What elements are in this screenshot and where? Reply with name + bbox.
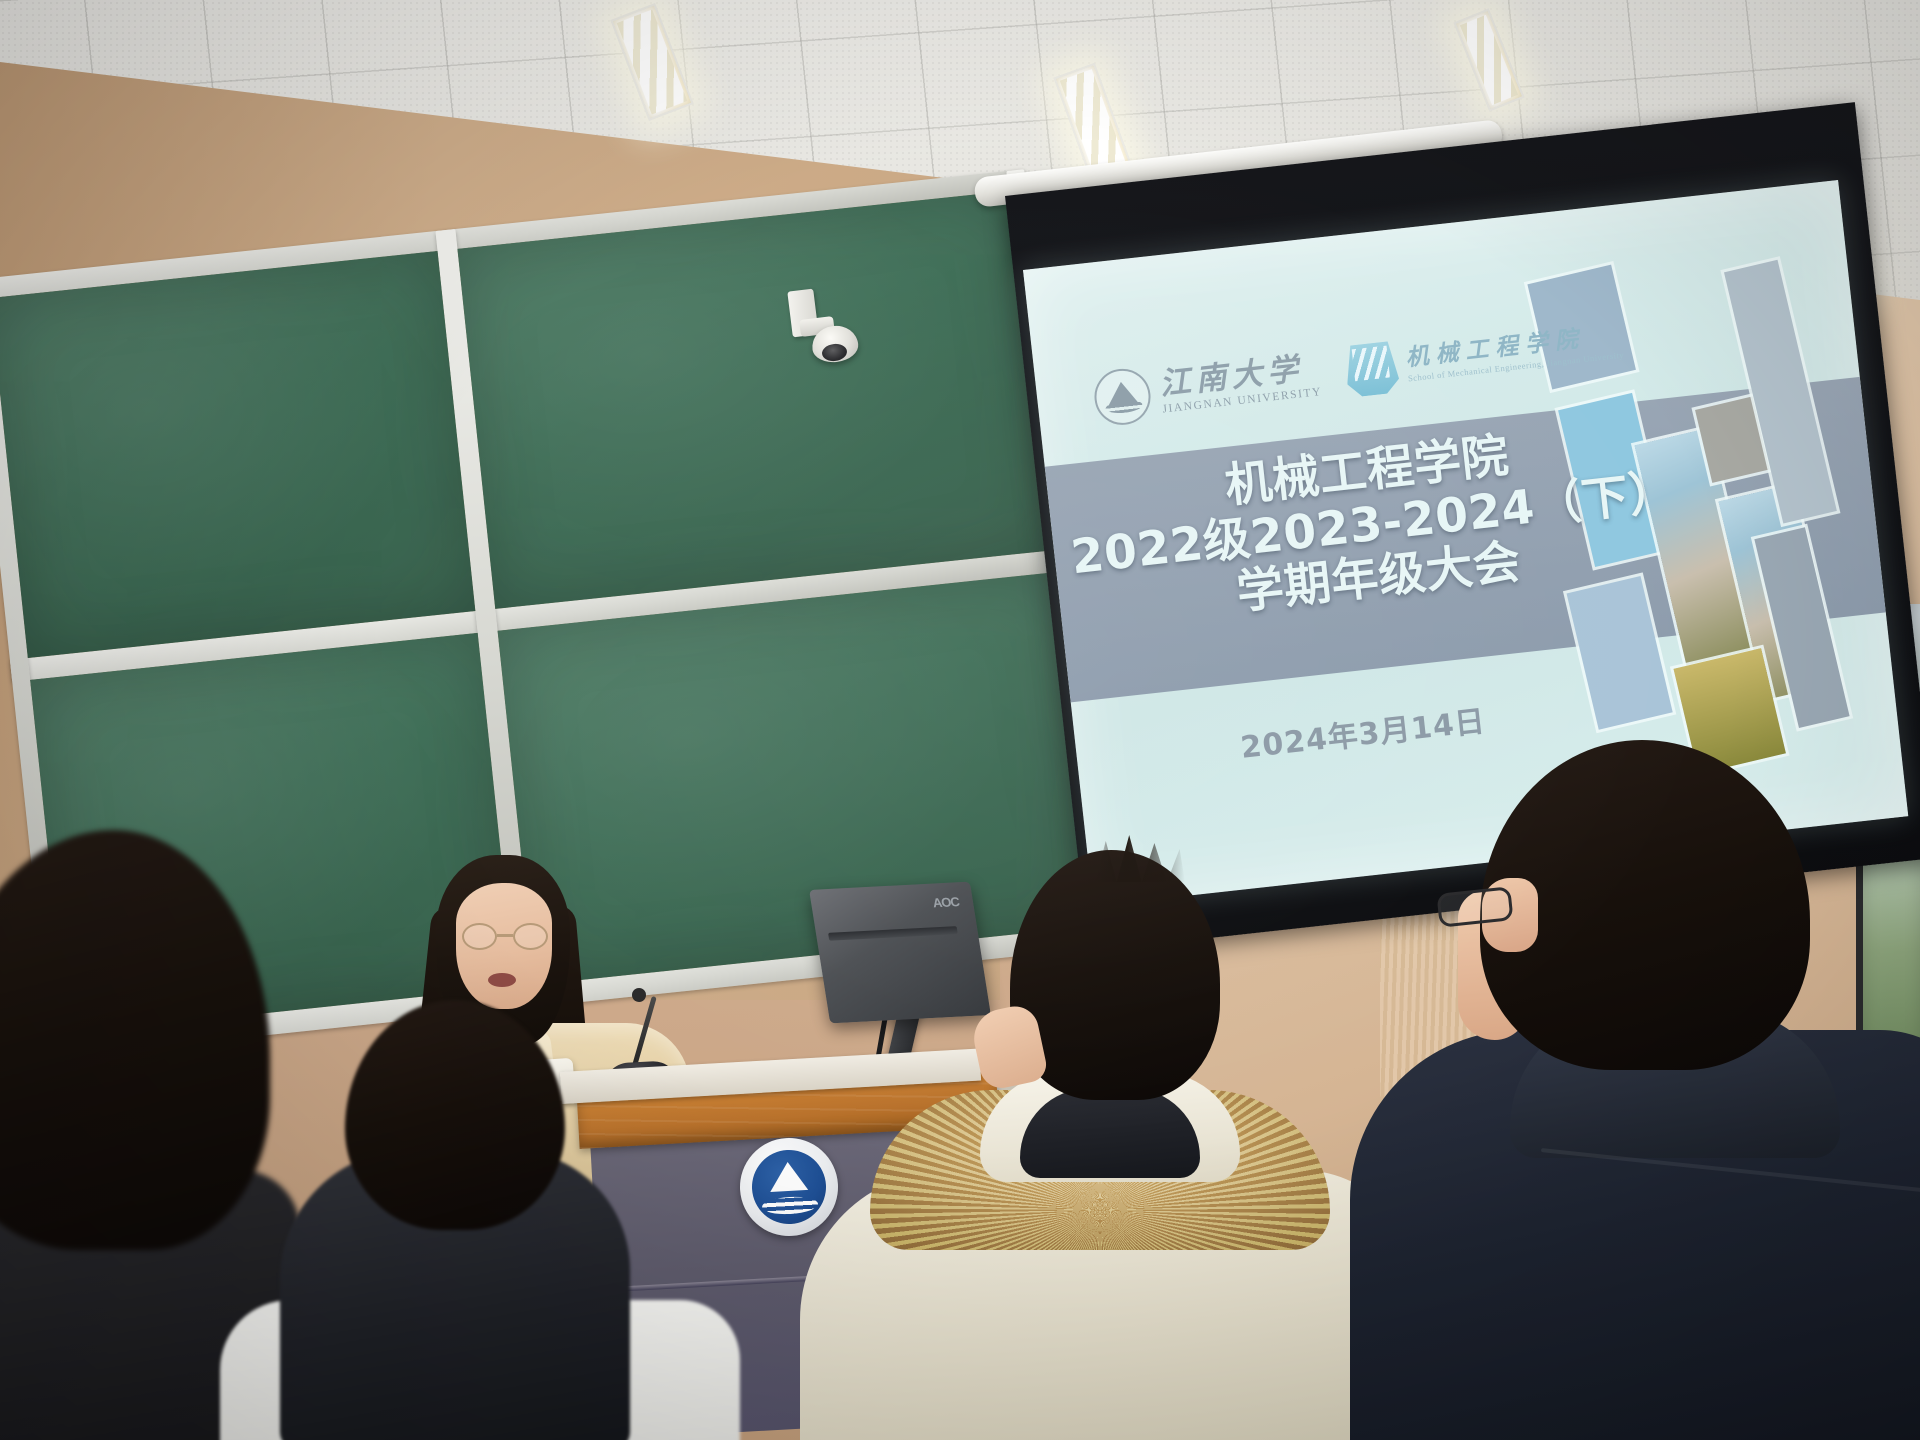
jiangnan-emblem-icon <box>750 1148 828 1226</box>
audience-student-d <box>1420 740 1920 1440</box>
audience-student-b <box>250 1000 730 1440</box>
eyeglasses-icon <box>462 923 548 951</box>
speaker-mouth <box>488 973 516 987</box>
student-b-head <box>345 1000 565 1230</box>
audience-student-c <box>880 840 1340 1440</box>
chalkboard-panel-top-left <box>0 251 475 658</box>
classroom-scene: 江南大学 JIANGNAN UNIVERSITY 机械工程学院 School o… <box>0 0 1920 1440</box>
mechanical-engineering-seal-icon <box>1343 340 1400 397</box>
student-a-head <box>0 830 270 1250</box>
jiangnan-university-seal-icon <box>1092 366 1154 428</box>
chalkboard-panel-top-right <box>457 191 1046 609</box>
